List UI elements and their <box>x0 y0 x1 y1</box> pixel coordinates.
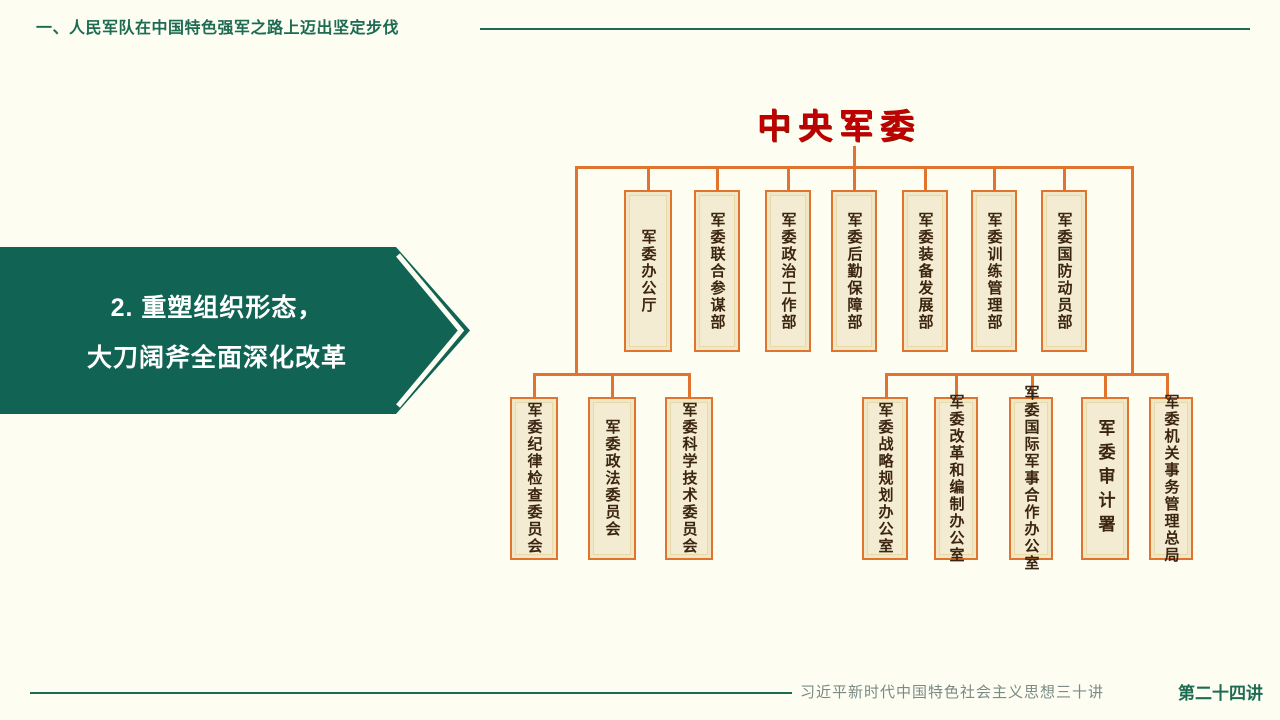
node-department-2[interactable]: 军委联合参谋部 <box>694 190 740 352</box>
connector-right-riser <box>1131 166 1134 375</box>
node-label: 军委后勤保障部 <box>847 212 862 331</box>
node-inner: 军委科学技术委员会 <box>670 402 708 555</box>
connector-drop-dept-7 <box>1063 166 1066 191</box>
node-inner: 军委国际军事合作办公室 <box>1014 402 1048 555</box>
node-commission-3[interactable]: 军委科学技术委员会 <box>665 397 713 560</box>
node-label: 军委战略规划办公室 <box>878 402 893 555</box>
slide: 一、人民军队在中国特色强军之路上迈出坚定步伐 2. 重塑组织形态， 大刀阔斧全面… <box>0 0 1280 720</box>
node-label: 军委机关事务管理总局 <box>1164 394 1179 564</box>
node-label: 军委国防动员部 <box>1057 212 1072 331</box>
node-office-5[interactable]: 军委机关事务管理总局 <box>1149 397 1193 560</box>
org-chart: 中央军委 军委办公厅 <box>0 0 1280 720</box>
node-label: 军委改革和编制办公室 <box>949 394 964 564</box>
node-inner: 军委纪律检查委员会 <box>515 402 553 555</box>
node-office-3[interactable]: 军委国际军事合作办公室 <box>1009 397 1053 560</box>
node-label: 军委办公厅 <box>641 229 656 314</box>
node-label: 军委政治工作部 <box>781 212 796 331</box>
node-department-6[interactable]: 军委训练管理部 <box>971 190 1017 352</box>
connector-drop-comm-3 <box>688 373 691 397</box>
node-office-2[interactable]: 军委改革和编制办公室 <box>934 397 978 560</box>
node-label: 军委纪律检查委员会 <box>527 402 542 555</box>
node-inner: 军委训练管理部 <box>976 195 1012 347</box>
connector-drop-dept-4 <box>853 166 856 191</box>
connector-drop-dept-2 <box>716 166 719 191</box>
node-inner: 军委改革和编制办公室 <box>939 402 973 555</box>
connector-drop-comm-1 <box>533 373 536 397</box>
connector-drop-office-4 <box>1104 373 1107 397</box>
node-commission-2[interactable]: 军委政法委员会 <box>588 397 636 560</box>
node-label: 军委训练管理部 <box>987 212 1002 331</box>
connector-drop-dept-3 <box>787 166 790 191</box>
connector-drop-dept-5 <box>924 166 927 191</box>
footer-lecture-number: 第二十四讲 <box>1178 679 1263 704</box>
node-inner: 军委装备发展部 <box>907 195 943 347</box>
chart-root-title: 中央军委 <box>757 99 921 148</box>
connector-drop-office-1 <box>885 373 888 397</box>
connector-root-stem <box>853 146 856 168</box>
connector-drop-dept-1 <box>647 166 650 191</box>
node-commission-1[interactable]: 军委纪律检查委员会 <box>510 397 558 560</box>
node-department-1[interactable]: 军委办公厅 <box>624 190 672 352</box>
connector-drop-comm-2 <box>611 373 614 397</box>
node-inner: 军委后勤保障部 <box>836 195 872 347</box>
node-inner: 军委办公厅 <box>629 195 667 347</box>
node-inner: 军委联合参谋部 <box>699 195 735 347</box>
node-office-4[interactable]: 军委审计署 <box>1081 397 1129 560</box>
node-inner: 军委机关事务管理总局 <box>1154 402 1188 555</box>
node-inner: 军委战略规划办公室 <box>867 402 903 555</box>
node-office-1[interactable]: 军委战略规划办公室 <box>862 397 908 560</box>
node-department-7[interactable]: 军委国防动员部 <box>1041 190 1087 352</box>
node-label: 军委审计署 <box>1097 419 1114 539</box>
node-department-4[interactable]: 军委后勤保障部 <box>831 190 877 352</box>
node-label: 军委科学技术委员会 <box>682 402 697 555</box>
node-inner: 军委国防动员部 <box>1046 195 1082 347</box>
node-label: 军委联合参谋部 <box>710 212 725 331</box>
node-inner: 军委政治工作部 <box>770 195 806 347</box>
node-inner: 军委审计署 <box>1086 402 1124 555</box>
node-department-3[interactable]: 军委政治工作部 <box>765 190 811 352</box>
footer-divider <box>30 692 792 694</box>
node-inner: 军委政法委员会 <box>593 402 631 555</box>
node-label: 军委政法委员会 <box>605 419 620 538</box>
node-label: 军委国际军事合作办公室 <box>1024 385 1039 572</box>
connector-left-riser <box>575 166 578 375</box>
connector-lower-right-bus <box>885 373 1169 376</box>
node-label: 军委装备发展部 <box>918 212 933 331</box>
footer-series-title: 习近平新时代中国特色社会主义思想三十讲 <box>800 681 1104 702</box>
connector-drop-dept-6 <box>993 166 996 191</box>
node-department-5[interactable]: 军委装备发展部 <box>902 190 948 352</box>
